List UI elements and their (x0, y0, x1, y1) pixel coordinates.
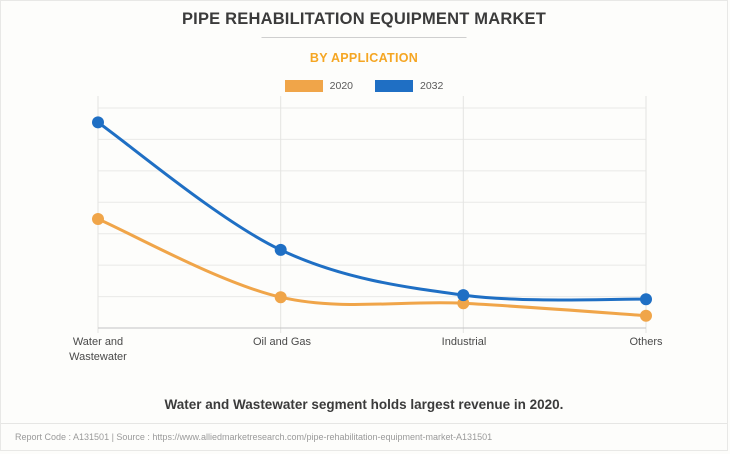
source-text: Report Code : A131501 | Source : https:/… (1, 432, 492, 442)
series-line-2032 (98, 122, 646, 300)
chart-legend: 2020 2032 (1, 80, 727, 92)
data-point-2032-Industrial[interactable] (457, 289, 469, 301)
x-axis-label-2-line1: Industrial (399, 335, 529, 350)
legend-label-2032: 2032 (420, 80, 443, 92)
chart-plot-area (1, 1, 730, 454)
x-axis-label-0-line2: Wastewater (33, 350, 163, 365)
chart-gridlines (98, 108, 646, 328)
data-point-2032-Oil and Gas[interactable] (275, 244, 287, 256)
legend-item-2020[interactable]: 2020 (285, 80, 353, 92)
legend-label-2020: 2020 (330, 80, 353, 92)
chart-category-lines (98, 96, 646, 333)
x-axis-label-0: Water and Wastewater (33, 335, 163, 365)
chart-caption: Water and Wastewater segment holds large… (1, 397, 727, 412)
x-axis-label-1: Oil and Gas (217, 335, 347, 350)
line-chart-svg (1, 1, 730, 454)
data-point-2020-Water and Wastewater[interactable] (92, 213, 104, 225)
legend-item-2032[interactable]: 2032 (375, 80, 443, 92)
page-title: PIPE REHABILITATION EQUIPMENT MARKET (1, 10, 727, 29)
data-point-2020-Oil and Gas[interactable] (275, 291, 287, 303)
data-point-2032-Water and Wastewater[interactable] (92, 116, 104, 128)
x-axis-label-2: Industrial (399, 335, 529, 350)
source-bar: Report Code : A131501 | Source : https:/… (1, 423, 727, 450)
data-point-2032-Others[interactable] (640, 293, 652, 305)
x-axis-label-1-line1: Oil and Gas (217, 335, 347, 350)
x-axis-label-0-line1: Water and (33, 335, 163, 350)
data-point-2020-Industrial[interactable] (457, 297, 469, 309)
legend-swatch-2032 (375, 80, 413, 92)
data-point-2020-Others[interactable] (640, 310, 652, 322)
title-divider (262, 37, 467, 38)
x-axis-label-3-line1: Others (581, 335, 711, 350)
series-line-2020 (98, 219, 646, 316)
chart-series-layer (92, 116, 652, 321)
chart-card: PIPE REHABILITATION EQUIPMENT MARKET BY … (0, 0, 728, 451)
legend-swatch-2020 (285, 80, 323, 92)
chart-subtitle: BY APPLICATION (1, 51, 727, 65)
x-axis-label-3: Others (581, 335, 711, 350)
